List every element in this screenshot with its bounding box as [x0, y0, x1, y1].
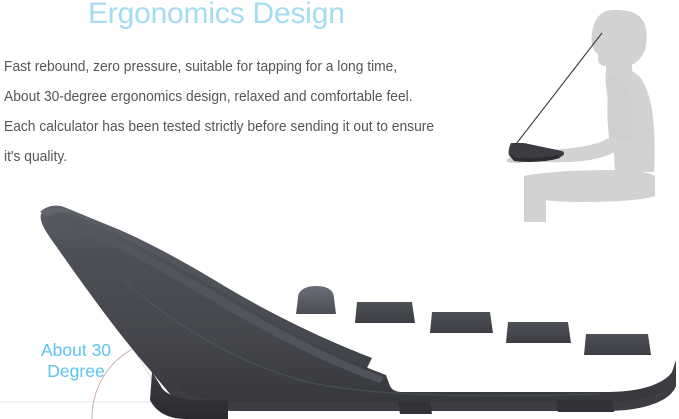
round-key	[296, 286, 336, 314]
key	[355, 302, 415, 323]
illustration-keyboard-device	[509, 143, 564, 162]
angle-callout-line: About 30	[20, 340, 132, 361]
seated-person-illustration	[494, 0, 679, 222]
description-paragraph: Fast rebound, zero pressure, suitable fo…	[4, 52, 504, 172]
sight-line	[513, 33, 602, 148]
description-line: Fast rebound, zero pressure, suitable fo…	[4, 52, 484, 82]
calculator-product-photo	[0, 190, 679, 419]
description-line: it's quality.	[4, 142, 484, 172]
head-shape	[592, 10, 647, 66]
key	[430, 312, 493, 333]
page-title: Ergonomics Design	[88, 0, 345, 31]
angle-callout: About 30 Degree	[20, 340, 132, 382]
description-line: Each calculator has been tested strictly…	[4, 112, 484, 142]
angle-callout-line: Degree	[20, 361, 132, 382]
calculator-base-shadow	[556, 400, 614, 412]
key	[584, 334, 651, 355]
calculator-base-shadow	[398, 402, 432, 414]
product-infographic-page: Ergonomics Design Fast rebound, zero pre…	[0, 0, 679, 419]
key	[506, 322, 571, 343]
description-line: About 30-degree ergonomics design, relax…	[4, 82, 484, 112]
calculator-keys-group	[296, 286, 651, 355]
